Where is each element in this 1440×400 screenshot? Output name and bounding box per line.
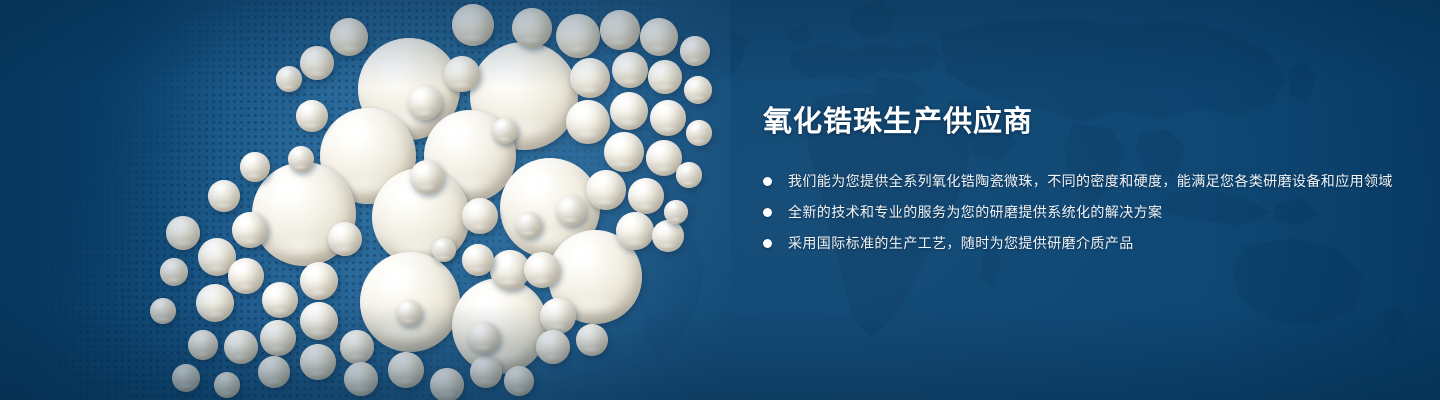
list-item: 全新的技术和专业的服务为您的研磨提供系统化的解决方案 [763, 201, 1403, 224]
list-item: 采用国际标准的生产工艺，随时为您提供研磨介质产品 [763, 232, 1403, 255]
dot-bullet-icon [763, 239, 772, 248]
list-item-label: 全新的技术和专业的服务为您的研磨提供系统化的解决方案 [788, 201, 1403, 224]
hero-banner: 氧化锆珠生产供应商 我们能为您提供全系列氧化锆陶瓷微珠，不同的密度和硬度，能满足… [0, 0, 1440, 400]
banner-copy: 氧化锆珠生产供应商 我们能为您提供全系列氧化锆陶瓷微珠，不同的密度和硬度，能满足… [763, 104, 1403, 263]
dot-bullet-icon [763, 177, 772, 186]
dot-bullet-icon [763, 208, 772, 217]
list-item: 我们能为您提供全系列氧化锆陶瓷微珠，不同的密度和硬度，能满足您各类研磨设备和应用… [763, 170, 1403, 193]
list-item-label: 我们能为您提供全系列氧化锆陶瓷微珠，不同的密度和硬度，能满足您各类研磨设备和应用… [788, 170, 1403, 193]
feature-list: 我们能为您提供全系列氧化锆陶瓷微珠，不同的密度和硬度，能满足您各类研磨设备和应用… [763, 170, 1403, 255]
list-item-label: 采用国际标准的生产工艺，随时为您提供研磨介质产品 [788, 232, 1403, 255]
page-title: 氧化锆珠生产供应商 [763, 104, 1403, 140]
